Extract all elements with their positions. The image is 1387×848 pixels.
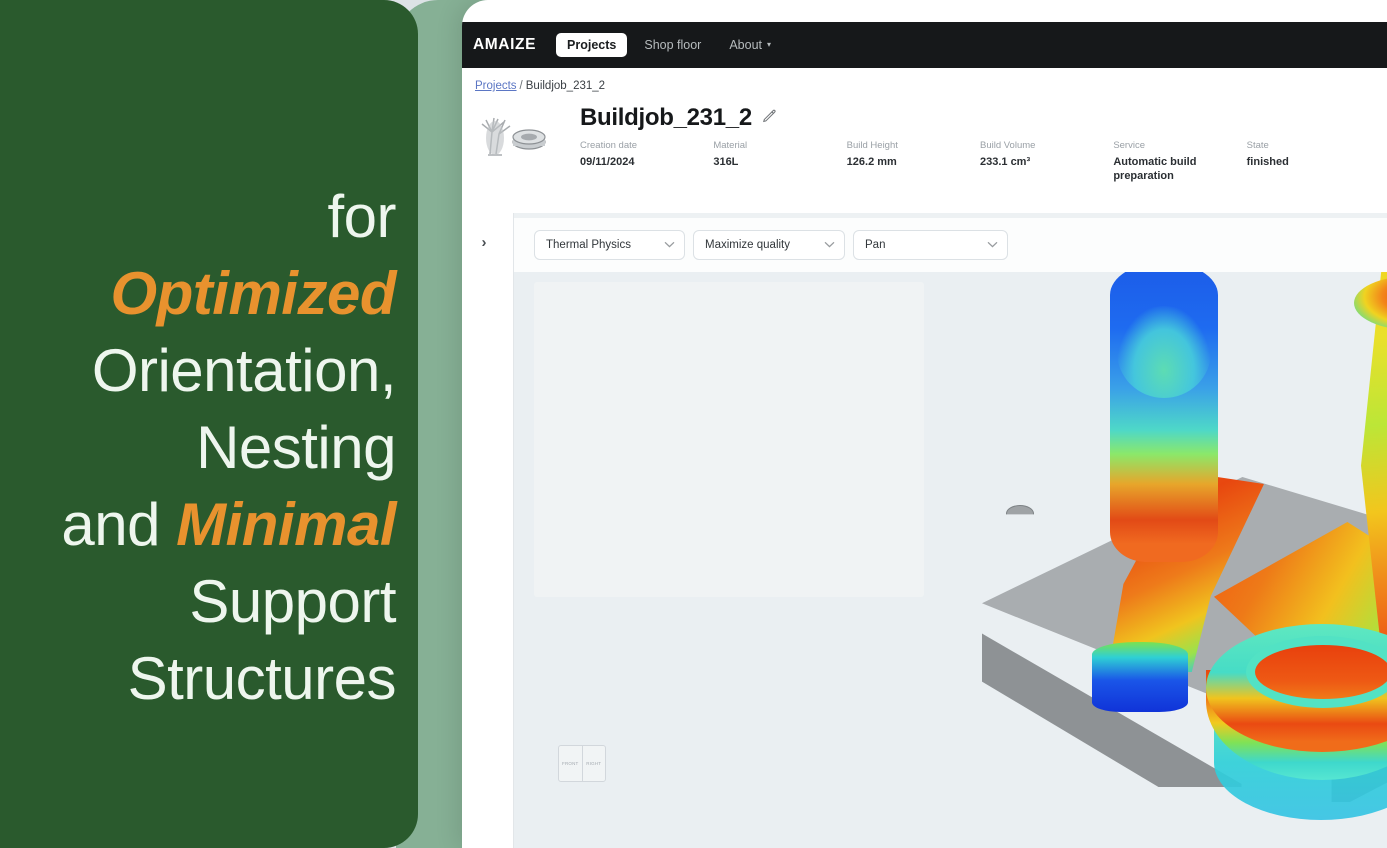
analysis-type-value: Thermal Physics (546, 239, 631, 251)
meta-build-volume: Build Volume 233.1 cm³ (980, 140, 1113, 183)
meta-value: 09/11/2024 (580, 155, 664, 169)
optimization-goal-value: Maximize quality (705, 239, 790, 251)
page-title: Buildjob_231_2 (580, 104, 752, 132)
status-badge: finished (1247, 155, 1331, 169)
meta-material: Material 316L (713, 140, 846, 183)
meta-value: 233.1 cm³ (980, 155, 1064, 169)
part-tube-foot (1092, 642, 1188, 712)
optimization-goal-select[interactable]: Maximize quality (693, 230, 845, 260)
top-navigation-bar: AMAIZE Projects Shop floor About▾ (462, 22, 1387, 68)
left-sidebar: › (462, 213, 514, 848)
promo-line-5: and Minimal (18, 486, 396, 563)
nav-item-about-label: About (729, 38, 762, 52)
promo-panel: for Optimized Orientation, Nesting and M… (0, 0, 418, 848)
promo-line-5-emphasis: Minimal (176, 491, 396, 558)
part-ring-inner-rim (1246, 636, 1387, 708)
view-cube-widget[interactable]: FRONT RIGHT (558, 745, 606, 782)
promo-headline: for Optimized Orientation, Nesting and M… (18, 178, 396, 717)
meta-label: State (1247, 140, 1380, 152)
view-cube-face-front[interactable]: FRONT (559, 746, 583, 781)
meta-value: 126.2 mm (847, 155, 931, 169)
promo-line-2: Optimized (18, 255, 396, 332)
meta-state: State finished (1247, 140, 1380, 183)
job-header: Buildjob_231_2 Creation date 09/11/2024 … (462, 104, 1387, 208)
brand-logo[interactable]: AMAIZE (473, 36, 536, 54)
chevron-down-icon (664, 239, 675, 251)
chevron-down-icon (824, 239, 835, 251)
viewer-toolbar: Thermal Physics Maximize quality Pan (514, 218, 1387, 272)
viewer-pane: Thermal Physics Maximize quality Pan (514, 213, 1387, 848)
breadcrumb: Projects/Buildjob_231_2 (475, 80, 605, 92)
chevron-right-icon[interactable]: › (472, 230, 496, 254)
build-parts-thumbnail (472, 108, 552, 164)
pencil-icon[interactable] (762, 108, 777, 128)
analysis-type-select[interactable]: Thermal Physics (534, 230, 685, 260)
meta-value: Automatic build preparation (1113, 155, 1197, 183)
promo-line-3: Orientation, (18, 332, 396, 409)
promo-line-6: Support (18, 563, 396, 640)
navigation-tool-value: Pan (865, 239, 885, 251)
job-metadata-row: Creation date 09/11/2024 Material 316L B… (580, 140, 1380, 183)
job-title-row: Buildjob_231_2 (580, 104, 777, 132)
promo-line-5-plain: and (61, 491, 176, 558)
part-tall-tube-highlight (1117, 306, 1211, 398)
build-plate-notch-left (1006, 505, 1034, 522)
body-area: › Thermal Physics Maximize quality Pan (462, 213, 1387, 848)
nav-item-shop-floor[interactable]: Shop floor (633, 33, 712, 57)
view-cube-face-right[interactable]: RIGHT (583, 746, 606, 781)
part-branch-cup (1354, 276, 1387, 330)
promo-line-7: Structures (18, 640, 396, 717)
promo-line-1: for (18, 178, 396, 255)
3d-scene (514, 272, 1387, 848)
meta-service: Service Automatic build preparation (1113, 140, 1246, 183)
meta-value: 316L (713, 155, 797, 169)
nav-item-about[interactable]: About▾ (718, 33, 782, 57)
3d-viewport[interactable]: FRONT RIGHT (514, 272, 1387, 848)
nav-item-projects[interactable]: Projects (556, 33, 627, 57)
meta-label: Build Height (847, 140, 980, 152)
meta-label: Build Volume (980, 140, 1113, 152)
chevron-down-icon: ▾ (767, 40, 771, 49)
meta-label: Service (1113, 140, 1246, 152)
meta-label: Creation date (580, 140, 713, 152)
meta-build-height: Build Height 126.2 mm (847, 140, 980, 183)
application-window: AMAIZE Projects Shop floor About▾ Projec… (462, 0, 1387, 848)
breadcrumb-separator: / (520, 80, 523, 92)
meta-creation-date: Creation date 09/11/2024 (580, 140, 713, 183)
navigation-tool-select[interactable]: Pan (853, 230, 1008, 260)
breadcrumb-link-projects[interactable]: Projects (475, 80, 517, 92)
promo-line-4: Nesting (18, 409, 396, 486)
breadcrumb-current: Buildjob_231_2 (526, 80, 605, 92)
chevron-down-icon (987, 239, 998, 251)
meta-label: Material (713, 140, 846, 152)
